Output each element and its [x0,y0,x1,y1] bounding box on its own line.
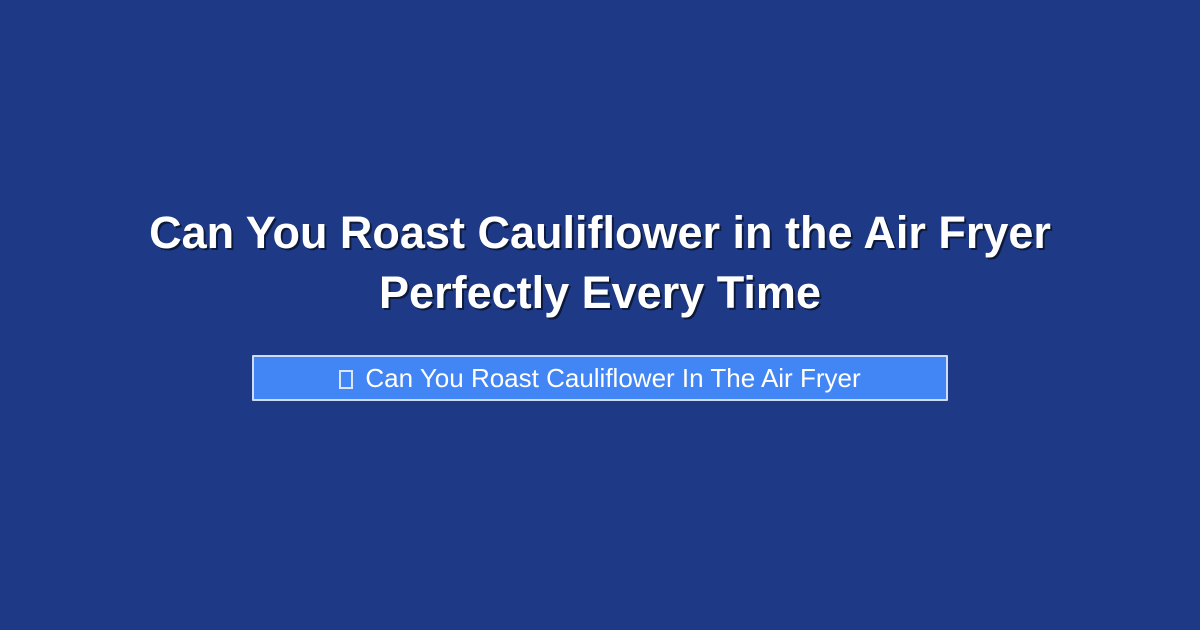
missing-glyph-box-icon [339,370,353,389]
badge-label: Can You Roast Cauliflower In The Air Fry… [365,363,860,393]
page-title: Can You Roast Cauliflower in the Air Fry… [60,203,1140,323]
article-title-badge[interactable]: Can You Roast Cauliflower In The Air Fry… [252,355,948,401]
social-share-card: Can You Roast Cauliflower in the Air Fry… [0,0,1200,630]
title-block: Can You Roast Cauliflower in the Air Fry… [0,203,1200,323]
badge-row: Can You Roast Cauliflower In The Air Fry… [0,355,1200,401]
